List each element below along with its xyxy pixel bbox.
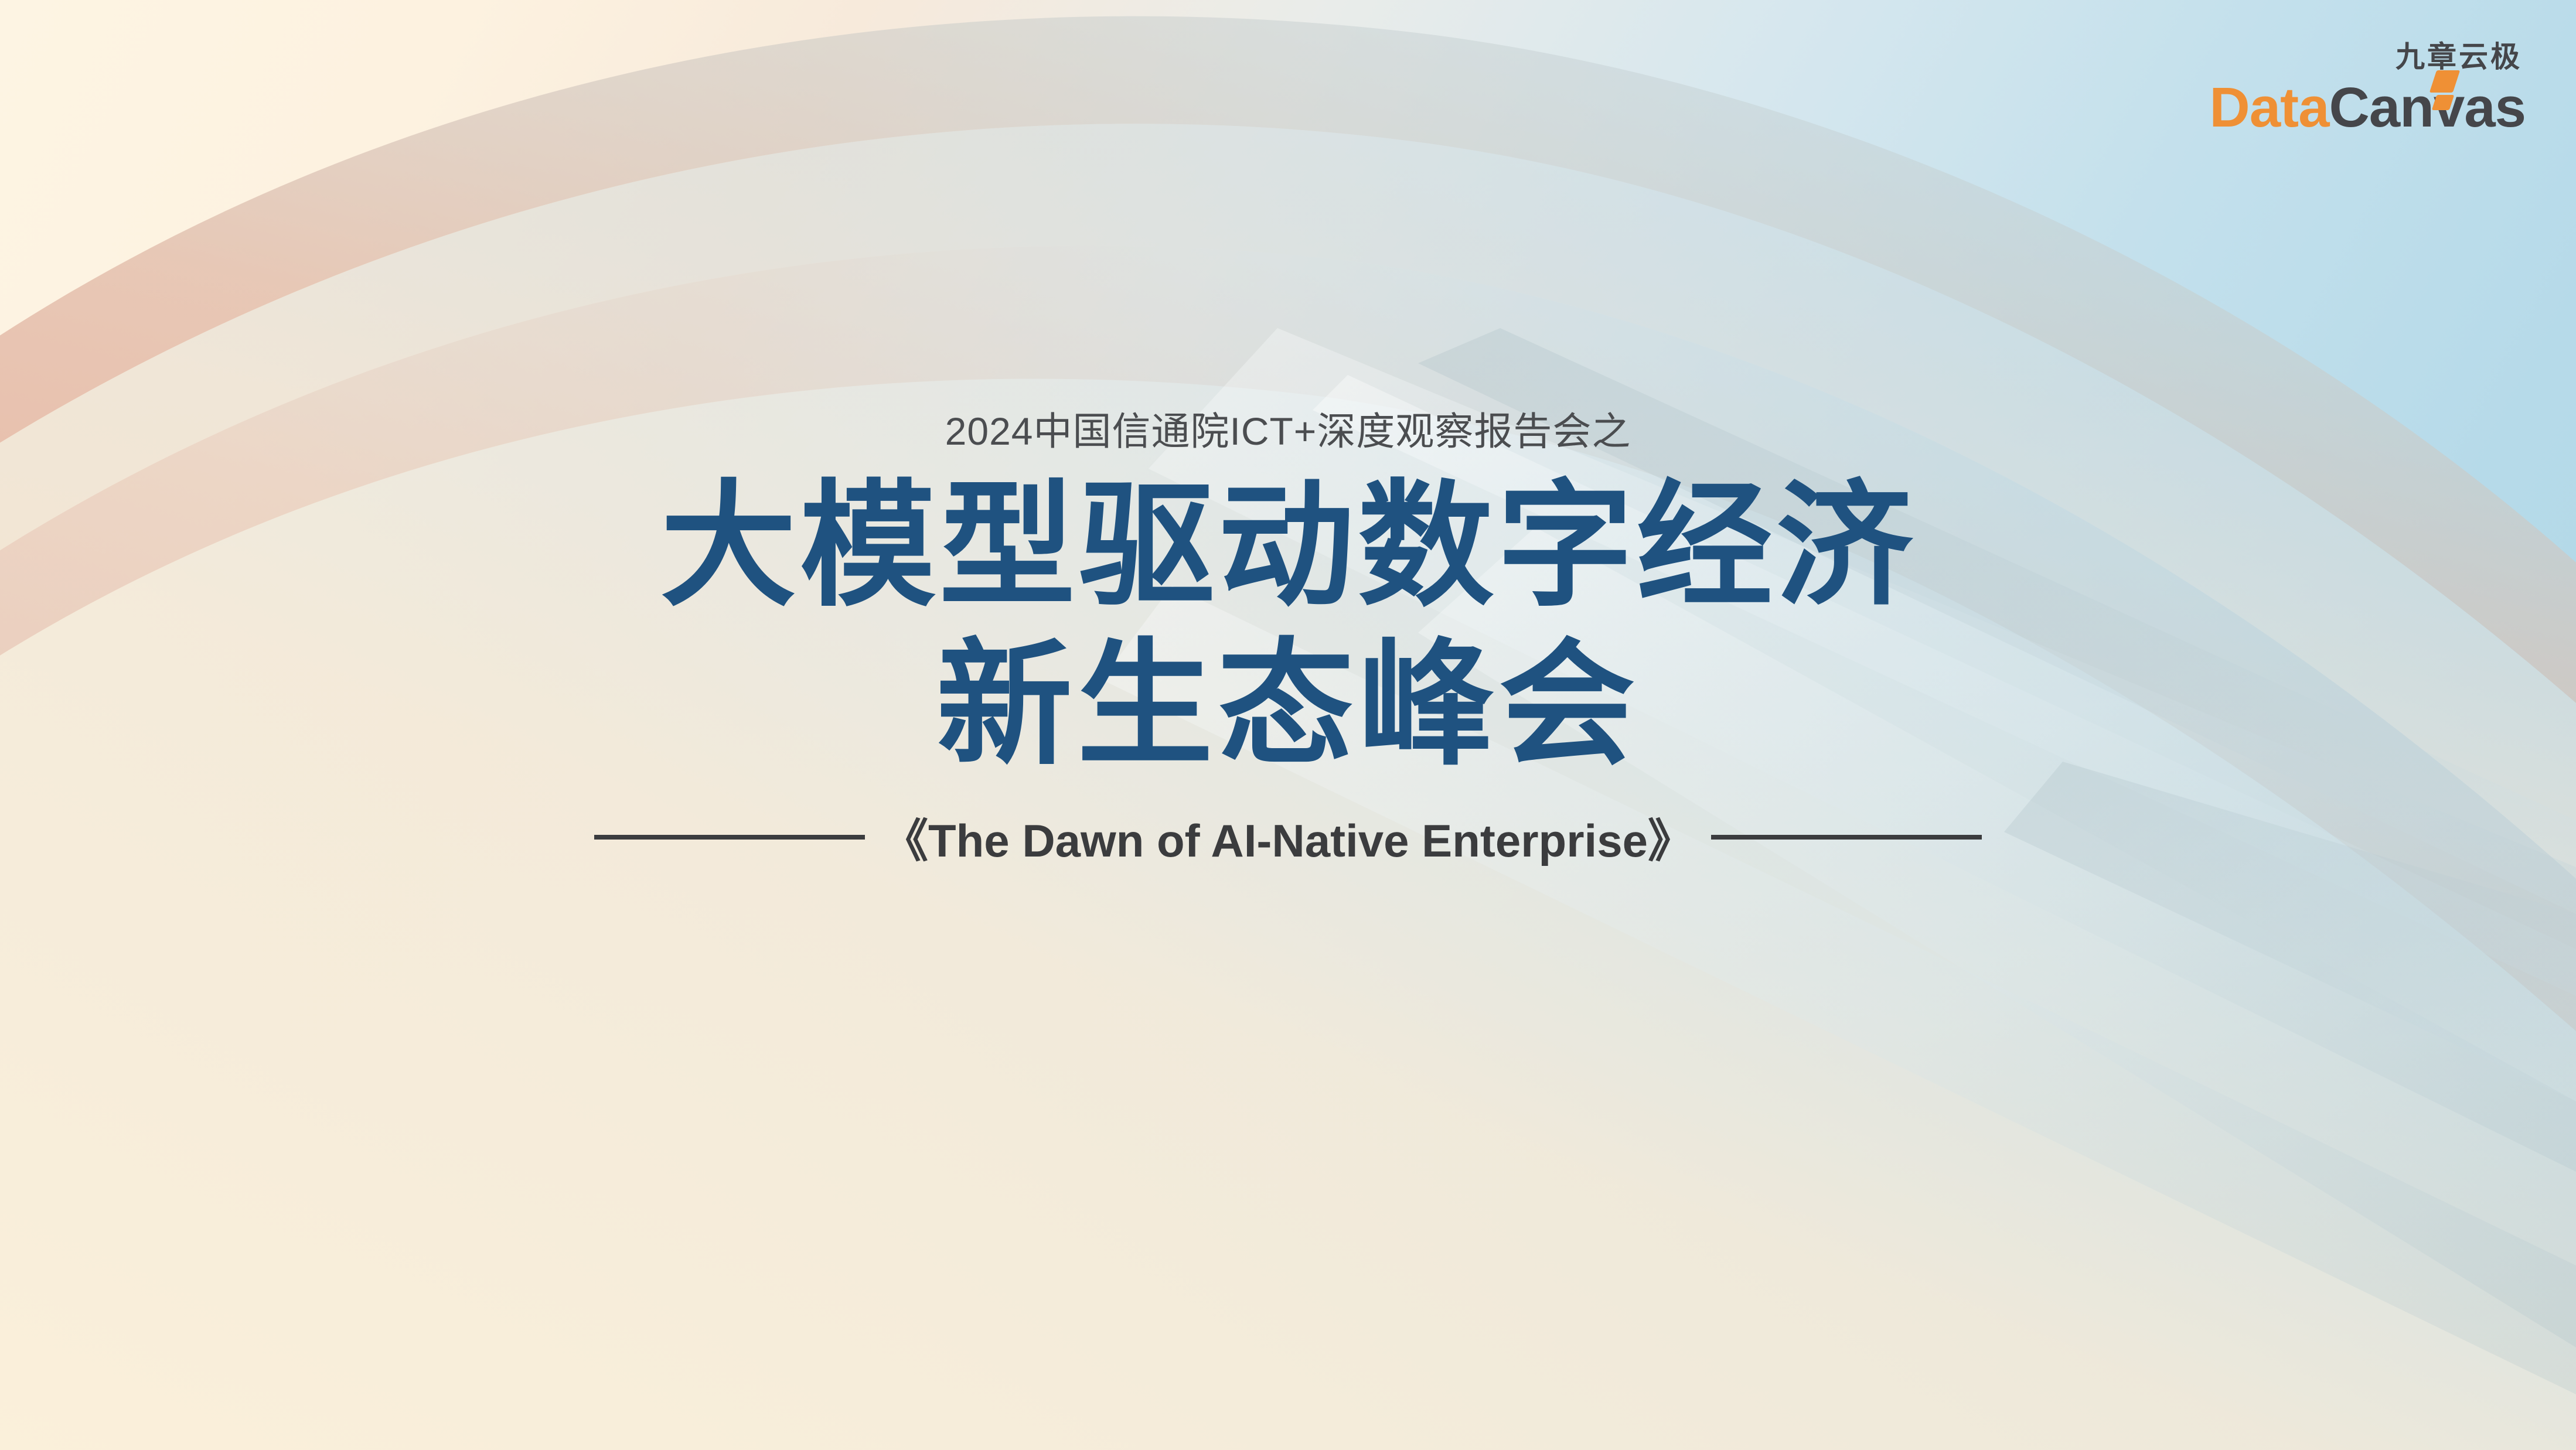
event-subtitle: 2024中国信通院ICT+深度观察报告会之 (0, 410, 2576, 453)
decorative-rule-left (594, 835, 865, 840)
presentation-title-slide: 九章云极 DataCanvas 2024中国信通院ICT+深度观察报告会之 大模… (0, 0, 2576, 1450)
logo-wordmark-canvas: Canvas (2329, 76, 2526, 139)
decorative-rule-right (1711, 835, 1982, 840)
main-title-line-1: 大模型驱动数字经济 (0, 467, 2576, 626)
title-block: 2024中国信通院ICT+深度观察报告会之 大模型驱动数字经济 新生态峰会 《T… (0, 410, 2576, 870)
logo-company-name-cn: 九章云极 (2209, 42, 2522, 71)
datacanvas-logo: 九章云极 DataCanvas (2209, 42, 2526, 136)
logo-wordmark: DataCanvas (2209, 80, 2526, 136)
logo-wordmark-data: Data (2209, 76, 2329, 139)
english-subtitle: 《The Dawn of AI-Native Enterprise》 (882, 804, 1694, 870)
main-title-line-2: 新生态峰会 (0, 626, 2576, 784)
english-subtitle-row: 《The Dawn of AI-Native Enterprise》 (0, 804, 2576, 870)
